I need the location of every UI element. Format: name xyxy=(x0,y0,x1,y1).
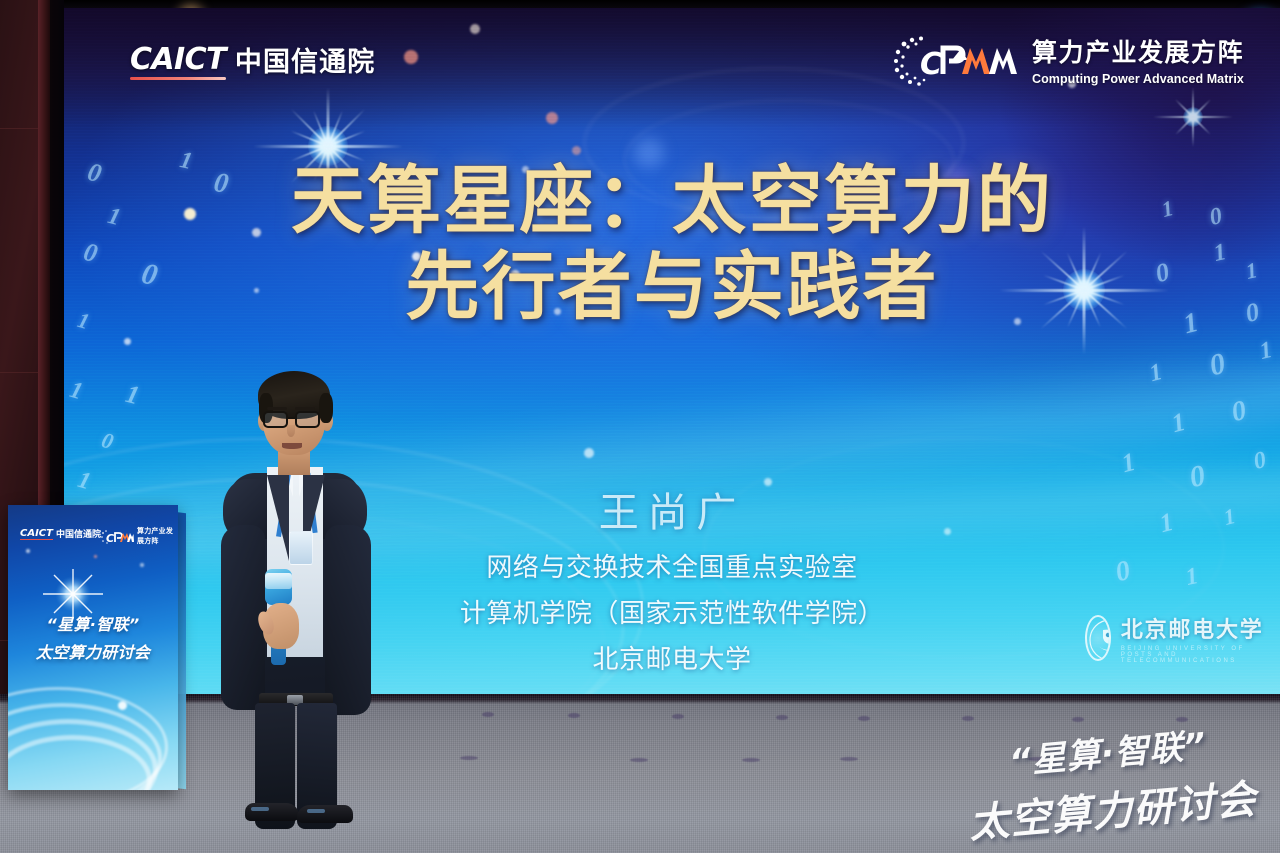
binary-digit: 1 xyxy=(123,379,143,411)
cpam-english-name: Computing Power Advanced Matrix xyxy=(1032,72,1244,86)
nose xyxy=(287,425,295,437)
binary-digit: 1 xyxy=(67,377,86,406)
jacket-lapel-left xyxy=(261,475,289,561)
bupt-name-en: BEIJING UNIVERSITY OF POSTS AND TELECOMM… xyxy=(1121,646,1280,664)
particle xyxy=(584,448,594,458)
podium-cpam-logo: C 算力产业发展方阵 xyxy=(100,526,178,546)
cpam-chinese-name: 算力产业发展方阵 xyxy=(1032,33,1244,69)
floor-marker xyxy=(776,715,788,720)
conference-stage-photo: 0 1 1 0 0 0 1 1 1 0 1 0 1 1 0 1 0 1 1 0 … xyxy=(0,0,1280,853)
podium: CAICT 中国信通院 C 算力产业发展方阵 xyxy=(0,505,186,797)
caict-chinese-name: 中国信通院 xyxy=(235,40,375,79)
eyeglasses-left-lens xyxy=(263,411,288,428)
svg-text:C: C xyxy=(920,47,942,82)
shoe-highlight-right xyxy=(307,809,325,813)
floor-marker xyxy=(962,716,974,721)
speaker-person xyxy=(215,355,415,815)
slide-title-line-2: 先行者与实践者 xyxy=(64,249,1280,325)
floor-marker xyxy=(630,758,648,762)
floor-marker xyxy=(742,758,760,762)
cpam-logo: C 算力产业发展方阵 Computing Power Advanced Matr… xyxy=(890,30,1244,88)
eyebrow-left xyxy=(267,407,287,410)
podium-caict-underline xyxy=(20,539,53,541)
bupt-university-logo: 北京邮电大学 BEIJING UNIVERSITY OF POSTS AND T… xyxy=(1085,612,1280,664)
bupt-seal-icon xyxy=(1085,615,1111,661)
eyeglasses-right-lens xyxy=(295,411,320,428)
particle xyxy=(124,338,131,345)
podium-cpam-emblem-icon: C xyxy=(100,529,134,544)
shoe-highlight-left xyxy=(251,807,269,811)
eyeglasses-bridge xyxy=(286,417,295,419)
particle xyxy=(572,146,581,155)
podium-caict-wordmark: CAICT xyxy=(20,528,53,539)
jacket-sleeve-right xyxy=(325,525,371,715)
eyebrow-right xyxy=(295,407,315,410)
podium-cpam-chinese: 算力产业发展方阵 xyxy=(137,526,178,546)
mouth xyxy=(282,443,302,449)
floor-marker xyxy=(840,757,858,761)
podium-title-line-2: 太空算力研讨会 xyxy=(8,639,178,663)
floor-marker xyxy=(1072,717,1084,722)
particle xyxy=(118,701,127,710)
particle xyxy=(140,563,144,567)
shoe-left xyxy=(245,803,299,821)
particle xyxy=(404,50,418,64)
shoe-right xyxy=(297,805,353,823)
caict-underline xyxy=(130,77,226,80)
podium-title-line-1: “星算·智联” xyxy=(8,611,178,635)
hair-side-right xyxy=(319,393,333,423)
particle xyxy=(470,24,480,34)
particle xyxy=(26,549,30,553)
podium-title-block: “星算·智联” 太空算力研讨会 xyxy=(8,611,178,663)
floor-marker xyxy=(482,712,494,717)
cpam-emblem-icon: C xyxy=(890,30,1020,88)
bupt-name-cn: 北京邮电大学 xyxy=(1121,612,1280,644)
floor-marker xyxy=(460,756,478,760)
slide-title-line-1: 天算星座：太空算力的 xyxy=(64,163,1280,239)
svg-text:C: C xyxy=(106,532,114,544)
floor-marker xyxy=(568,713,580,718)
particle xyxy=(94,555,97,558)
podium-caict-chinese: 中国信通院 xyxy=(56,527,101,540)
podium-caict-logo: CAICT 中国信通院 xyxy=(20,527,101,540)
caict-logo: CAICT 中国信通院 xyxy=(130,40,375,79)
particle xyxy=(546,112,558,124)
floor-marker xyxy=(858,716,870,721)
floor-marker xyxy=(672,714,684,719)
podium-front-panel: CAICT 中国信通院 C 算力产业发展方阵 xyxy=(8,505,178,790)
caict-wordmark: CAICT xyxy=(130,42,226,77)
microphone-flag xyxy=(265,573,292,589)
slide-title-block: 天算星座：太空算力的 先行者与实践者 xyxy=(64,163,1280,325)
name-badge xyxy=(289,531,313,565)
